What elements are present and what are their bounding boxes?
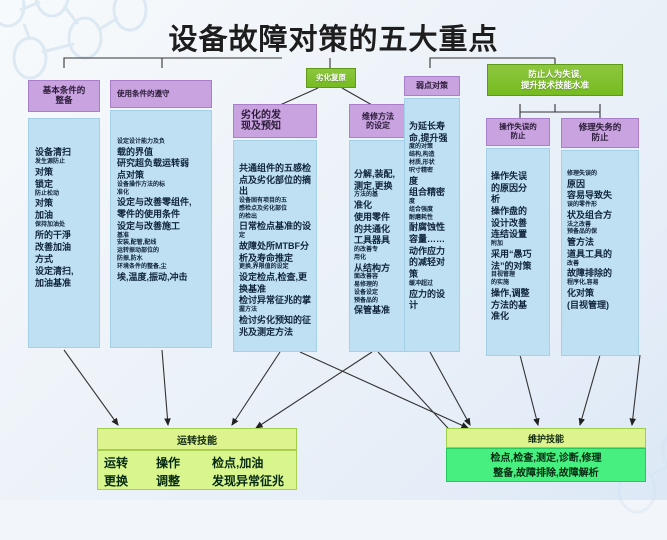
column-item: 操作盘的	[491, 206, 545, 218]
column-item: 设备操作方法的标	[117, 182, 205, 190]
column-header-basic-conditions-label: 基本条件的 整备	[43, 86, 86, 106]
column-item: 误的零件形	[567, 202, 633, 210]
column-item: 安装,配管,配线	[117, 240, 205, 248]
operation-skill-cell: 检点,加油	[212, 454, 263, 472]
column-item: 容量……	[409, 234, 455, 246]
column-item: 的原因分	[491, 183, 545, 195]
column-item: 定	[239, 233, 311, 241]
column-header-repair-error-prevention-label: 修理失务的 防止	[579, 123, 622, 143]
column-item: 程序化,容易	[567, 280, 633, 288]
column-body-maintenance-method: 分解,装配,测定,更换方法的基准化使用零件的共通化工具器具的改善专用化从结构方面…	[349, 140, 407, 352]
column-item: 准化	[491, 311, 545, 323]
operation-skill-body: 运转 操作 检点,加油 更换 调整 发现异常征兆	[97, 450, 297, 490]
column-item: 对策	[35, 167, 93, 179]
column-item: 检讨异常征兆的掌	[239, 295, 311, 307]
column-item: 采用“愚巧	[491, 249, 545, 261]
operation-skill-header-label: 运转技能	[177, 432, 217, 447]
column-item: 故障处所MTBF分	[239, 241, 311, 253]
column-item: 道具工具的	[567, 249, 633, 261]
column-item: 零件的使用条件	[117, 209, 205, 221]
node-deterioration-restoration-label: 劣化复原	[316, 73, 346, 82]
column-item: 方法的基	[354, 192, 402, 200]
column-item: 组合精密	[409, 187, 455, 199]
column-item: 保持加油处	[35, 222, 93, 230]
column-item: 附加	[491, 241, 545, 249]
column-item: 点及劣化部位的摘	[239, 175, 311, 187]
column-item: 分解,装配,	[354, 169, 402, 181]
column-item: 设备清扫	[35, 147, 93, 159]
column-body-repair-error-prevention: 修理失误的原因容易导致失误的零件形状及组合方法之改善预备品的保管方法道具工具的改…	[561, 150, 639, 356]
column-item: 测定,更换	[354, 181, 402, 193]
column-header-weak-point[interactable]: 弱点对策	[404, 76, 460, 96]
column-header-repair-error-prevention[interactable]: 修理失务的 防止	[561, 118, 639, 148]
column-item: 工具器具	[354, 235, 402, 247]
column-item: 析及寿命推定	[239, 253, 311, 265]
column-body-basic-conditions: 设备清扫发生源防止对策锁定防止松动对策加油保持加油处所的干淨改善加油方式设定清扫…	[28, 118, 100, 348]
maintenance-skill-body: 检点,检查,测定,诊断,修理 整备,故障排除,故障解析	[446, 448, 646, 482]
column-item: 命,提升强	[409, 133, 455, 145]
column-item: 结构,构造	[409, 152, 455, 160]
column-item: 加油基准	[35, 278, 93, 290]
column-item: 对策	[35, 198, 93, 210]
operation-skill-cell: 更换	[104, 472, 156, 490]
column-item: 锁定	[35, 179, 93, 191]
column-item: 管方法	[567, 237, 633, 249]
column-item: 计	[409, 300, 455, 312]
column-item: 保管基准	[354, 305, 402, 317]
column-item: 法”的对策	[491, 261, 545, 273]
column-item: 连结设置	[491, 229, 545, 241]
column-item: 耐腐蚀性	[409, 222, 455, 234]
column-item: 握方法	[239, 307, 311, 315]
page-title: 设备故障对策的五大重点	[0, 16, 667, 58]
column-item: 度	[409, 176, 455, 188]
column-item: 兆及测定方法	[239, 327, 311, 339]
node-human-error-prevention[interactable]: 防止人为失误, 提升技术技能水准	[487, 64, 623, 96]
operation-skill-cell: 操作	[156, 454, 212, 472]
column-item: 准化	[354, 200, 402, 212]
column-header-usage-conditions-label: 使用条件的遵守	[117, 90, 170, 99]
column-item: 共通组件的五感检	[239, 163, 311, 175]
column-body-operation-error-prevention: 操作失误的原因分析操作盘的设计改善连结设置附加采用“愚巧法”的对策目视管理的实施…	[486, 148, 550, 356]
column-item: 策	[409, 269, 455, 281]
operation-skill-header[interactable]: 运转技能	[97, 428, 297, 450]
column-item: 操作失误	[491, 171, 545, 183]
column-item: 为延长寿	[409, 121, 455, 133]
column-item: 原因	[567, 179, 633, 191]
operation-skill-cell: 发现异常征兆	[212, 472, 284, 490]
column-item: 改善加油	[35, 242, 93, 254]
column-item: 容易导致失	[567, 190, 633, 202]
column-item: 加油	[35, 210, 93, 222]
column-item: 所的干淨	[35, 230, 93, 242]
column-item: 面改善容	[354, 274, 402, 282]
column-item: 修理失误的	[567, 171, 633, 179]
column-item: 的改善专	[354, 247, 402, 255]
column-item: 故障排除的	[567, 268, 633, 280]
column-header-deterioration-detection-label: 劣化的发 现及预知	[241, 110, 281, 133]
column-item: 组合强度	[409, 207, 455, 215]
column-item: 的实施	[491, 280, 545, 288]
column-item: 缓冲超过	[409, 281, 455, 289]
column-item: 防振,防水	[117, 256, 205, 264]
column-item: 更换,界限值的设定	[239, 264, 311, 272]
column-item: 设定与改善施工	[117, 221, 205, 233]
column-item: (目视管理)	[567, 300, 633, 312]
column-item: 从结构方	[354, 263, 402, 275]
column-item: 析	[491, 194, 545, 206]
column-item: 应力的设	[409, 289, 455, 301]
column-item: 感检点及劣化部位	[239, 206, 311, 214]
column-item: 操作,调整	[491, 288, 545, 300]
column-item: 换基准	[239, 284, 311, 296]
column-header-maintenance-method-label: 维修方法 的设定	[362, 112, 394, 130]
column-item: 设定检点,检查,更	[239, 272, 311, 284]
column-item: 设备固有项目的五	[239, 198, 311, 206]
column-body-deterioration-detection: 共通组件的五感检点及劣化部位的摘出设备固有项目的五感检点及劣化部位的检出日常检点…	[233, 140, 317, 352]
column-item: 使用零件	[354, 212, 402, 224]
column-item: 研究超负载运转弱	[117, 158, 205, 170]
column-header-basic-conditions[interactable]: 基本条件的 整备	[28, 80, 100, 112]
column-header-operation-error-prevention[interactable]: 操作失误的 防止	[486, 118, 550, 146]
node-deterioration-restoration[interactable]: 劣化复原	[306, 68, 356, 88]
maintenance-skill-line: 检点,检查,测定,诊断,修理	[455, 452, 637, 467]
column-item: 发生源防止	[35, 159, 93, 167]
column-item: 设计改善	[491, 218, 545, 230]
column-item: 用化	[354, 255, 402, 263]
column-item: 度	[409, 199, 455, 207]
column-item: 环境条件的整备,尘	[117, 264, 205, 272]
column-header-weak-point-label: 弱点对策	[416, 81, 448, 90]
column-item: 动作应力	[409, 246, 455, 258]
column-body-weak-point: 为延长寿命,提升强度的对策结构,构造材质,形状呎寸精密度组合精密度组合强度耐磨耗…	[404, 98, 460, 352]
column-item: 运转振动部位的	[117, 248, 205, 256]
column-item: 度的对策	[409, 144, 455, 152]
column-item: 载的界值	[117, 147, 205, 159]
column-item: 检讨劣化预知的征	[239, 315, 311, 327]
column-item: 点对策	[117, 170, 205, 182]
column-header-usage-conditions[interactable]: 使用条件的遵守	[110, 80, 212, 108]
maintenance-skill-header[interactable]: 维护技能	[446, 428, 646, 448]
operation-skill-cell: 调整	[156, 472, 212, 490]
operation-skill-row: 更换 调整 发现异常征兆	[104, 472, 290, 490]
column-item: 目视管理	[491, 272, 545, 280]
node-human-error-prevention-label: 防止人为失误, 提升技术技能水准	[521, 69, 589, 90]
column-item: 状及组合方	[567, 210, 633, 222]
operation-skill-cell: 运转	[104, 454, 156, 472]
diagram-canvas: 设备故障对策的五大重点	[0, 0, 667, 500]
column-item: 呎寸精密	[409, 168, 455, 176]
column-header-operation-error-prevention-label: 操作失误的 防止	[499, 123, 537, 140]
column-item: 易修理的	[354, 282, 402, 290]
column-item: 材质,形状	[409, 160, 455, 168]
column-item: 化对策	[567, 288, 633, 300]
column-item: 设定与改善零组件,	[117, 197, 205, 209]
column-item: 设定清扫,	[35, 266, 93, 278]
column-item: 埃,温度,振动,冲击	[117, 272, 205, 284]
column-item: 设定设计能力及负	[117, 139, 205, 147]
column-item: 方法的基	[491, 300, 545, 312]
column-header-deterioration-detection[interactable]: 劣化的发 现及预知	[233, 104, 317, 138]
column-item: 设备设定	[354, 290, 402, 298]
column-header-maintenance-method[interactable]: 维修方法 的设定	[349, 104, 407, 138]
column-item: 的共通化	[354, 224, 402, 236]
column-item: 出	[239, 186, 311, 198]
column-item: 方式	[35, 254, 93, 266]
column-body-usage-conditions: 设定设计能力及负载的界值研究超负载运转弱点对策设备操作方法的标准化设定与改善零组…	[110, 110, 212, 348]
column-item: 日常检点基准的设	[239, 221, 311, 233]
operation-skill-row: 运转 操作 检点,加油	[104, 454, 290, 472]
column-item: 的减轻对	[409, 257, 455, 269]
maintenance-skill-line: 整备,故障排除,故障解析	[455, 467, 637, 482]
maintenance-skill-header-label: 维护技能	[528, 432, 564, 445]
